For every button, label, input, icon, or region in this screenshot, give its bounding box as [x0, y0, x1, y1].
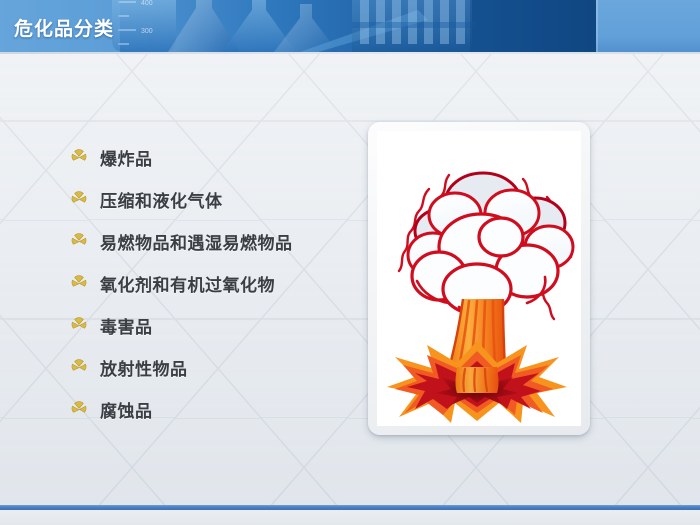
- list-item[interactable]: 腐蚀品: [70, 388, 370, 430]
- list-item-label: 爆炸品: [100, 145, 153, 170]
- list-item[interactable]: 毒害品: [70, 304, 370, 346]
- explosion-mushroom-cloud-illustration: [377, 131, 581, 426]
- trefoil-icon: [70, 316, 88, 334]
- list-item[interactable]: 氧化剂和有机过氧化物: [70, 262, 370, 304]
- illustration-frame: [368, 122, 590, 435]
- list-item-label: 氧化剂和有机过氧化物: [100, 271, 275, 296]
- header-right-band: [596, 0, 700, 52]
- hazard-category-list: 爆炸品 压缩和液化气体 易燃物品和遇湿易燃物品: [70, 136, 370, 430]
- list-item[interactable]: 易燃物品和遇湿易燃物品: [70, 220, 370, 262]
- list-item[interactable]: 放射性物品: [70, 346, 370, 388]
- list-item-label: 压缩和液化气体: [100, 187, 223, 212]
- slide: 400 300: [0, 0, 700, 525]
- svg-text:400: 400: [141, 0, 153, 7]
- trefoil-icon: [70, 190, 88, 208]
- header-underline: [0, 52, 700, 54]
- svg-text:300: 300: [141, 28, 153, 35]
- illustration-canvas: [377, 131, 581, 426]
- trefoil-icon: [70, 232, 88, 250]
- list-item-label: 易燃物品和遇湿易燃物品: [100, 229, 293, 254]
- trefoil-icon: [70, 148, 88, 166]
- list-item-label: 放射性物品: [100, 355, 188, 380]
- trefoil-icon: [70, 274, 88, 292]
- footer-area: [0, 510, 700, 525]
- trefoil-icon: [70, 400, 88, 418]
- trefoil-icon: [70, 358, 88, 376]
- slide-header: 400 300: [0, 0, 700, 52]
- list-item[interactable]: 压缩和液化气体: [70, 178, 370, 220]
- list-item-label: 毒害品: [100, 313, 153, 338]
- list-item-label: 腐蚀品: [100, 397, 153, 422]
- page-title: 危化品分类: [14, 14, 114, 41]
- list-item[interactable]: 爆炸品: [70, 136, 370, 178]
